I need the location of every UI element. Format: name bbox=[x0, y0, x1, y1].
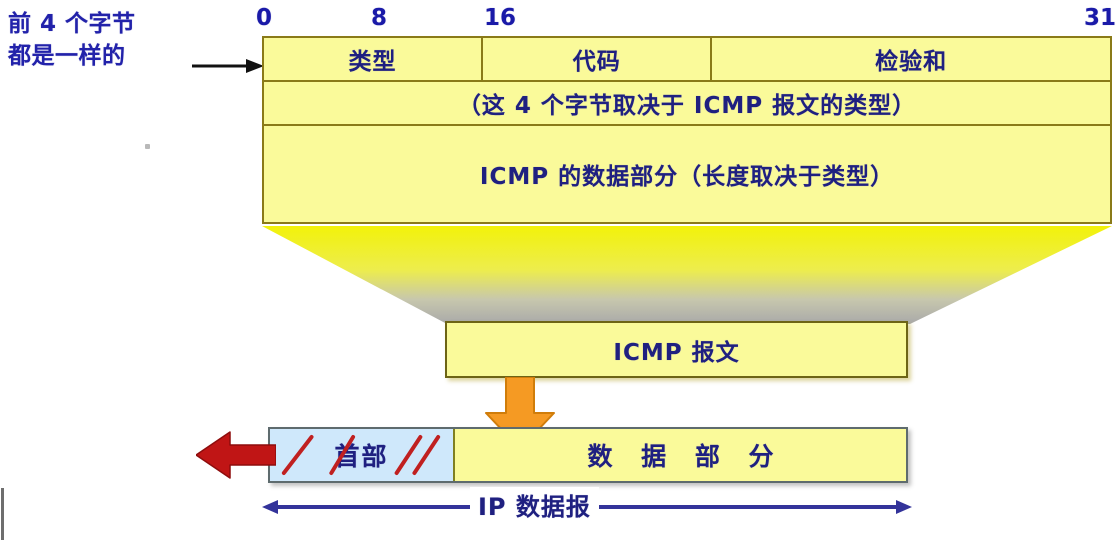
header-row-data: ICMP 的数据部分（长度取决于类型） bbox=[264, 126, 1110, 222]
bit-label-8: 8 bbox=[371, 5, 387, 31]
funnel-shape bbox=[262, 226, 1112, 324]
header-row-fields: 类型 代码 检验和 bbox=[264, 38, 1110, 82]
stray-dot-artifact bbox=[145, 144, 150, 149]
ip-header-cell: 首部 bbox=[270, 429, 455, 481]
red-left-arrow-icon bbox=[196, 428, 276, 482]
field-checksum: 检验和 bbox=[712, 38, 1110, 80]
bit-ruler: 0 8 16 31 bbox=[0, 0, 1120, 34]
icmp-data-part-note: ICMP 的数据部分（长度取决于类型） bbox=[264, 126, 1110, 222]
ip-data-cell: 数 据 部 分 bbox=[455, 429, 906, 481]
black-right-arrow-icon bbox=[192, 58, 264, 74]
bit-label-31: 31 bbox=[1084, 5, 1116, 31]
field-type: 类型 bbox=[264, 38, 483, 80]
icmp-header-table: 类型 代码 检验和 （这 4 个字节取决于 ICMP 报文的类型） ICMP 的… bbox=[262, 36, 1112, 224]
header-row-variable: （这 4 个字节取决于 ICMP 报文的类型） bbox=[264, 82, 1110, 126]
strikethrough-slashes-icon bbox=[270, 429, 453, 481]
ip-datagram-span-label: IP 数据报 bbox=[470, 487, 599, 522]
field-code: 代码 bbox=[483, 38, 712, 80]
bit-label-0: 0 bbox=[256, 5, 272, 31]
bit-label-16: 16 bbox=[484, 5, 516, 31]
icmp-message-box: ICMP 报文 bbox=[445, 321, 908, 378]
image-edge-artifact bbox=[1, 488, 4, 540]
icmp-diagram-canvas: 前 4 个字节 都是一样的 0 8 16 31 类型 代码 检验和 （这 4 个… bbox=[0, 0, 1120, 540]
variable-bytes-note: （这 4 个字节取决于 ICMP 报文的类型） bbox=[264, 82, 1110, 124]
ip-datagram-row: 首部 数 据 部 分 bbox=[268, 427, 908, 483]
